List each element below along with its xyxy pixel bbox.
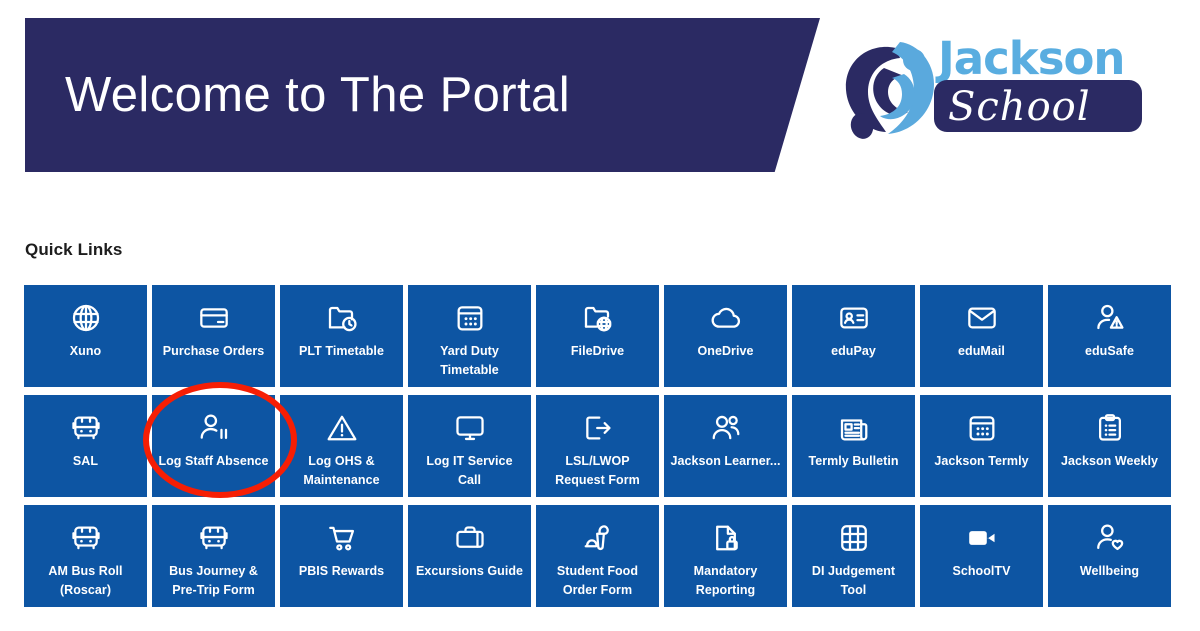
- quick-link-label: OneDrive: [692, 342, 760, 361]
- quick-link-tile[interactable]: AM Bus Roll (Roscar): [24, 505, 147, 607]
- quick-link-tile[interactable]: SchoolTV: [920, 505, 1043, 607]
- quick-link-label: Yard Duty Timetable: [408, 342, 531, 381]
- cloud-icon: [709, 301, 743, 335]
- person-pause-icon: [197, 411, 231, 445]
- quick-link-label: DI Judgement Tool: [792, 562, 915, 601]
- quick-link-label: Purchase Orders: [157, 342, 271, 361]
- quick-link-label: LSL/LWOP Request Form: [536, 452, 659, 491]
- quick-link-tile[interactable]: Bus Journey & Pre-Trip Form: [152, 505, 275, 607]
- quick-link-tile[interactable]: Jackson Weekly: [1048, 395, 1171, 497]
- quick-link-tile[interactable]: OneDrive: [664, 285, 787, 387]
- folder-globe-icon: [581, 301, 615, 335]
- logo-word-school: School: [948, 84, 1091, 130]
- folder-clock-icon: [325, 301, 359, 335]
- envelope-icon: [965, 301, 999, 335]
- food-drink-icon: [581, 521, 615, 555]
- quick-link-tile[interactable]: Log Staff Absence: [152, 395, 275, 497]
- globe-icon: [69, 301, 103, 335]
- quick-link-label: Log IT Service Call: [408, 452, 531, 491]
- quick-link-tile[interactable]: eduPay: [792, 285, 915, 387]
- quick-link-tile[interactable]: Jackson Learner...: [664, 395, 787, 497]
- quick-link-tile[interactable]: FileDrive: [536, 285, 659, 387]
- quick-link-tile[interactable]: Jackson Termly: [920, 395, 1043, 497]
- person-heart-icon: [1093, 521, 1127, 555]
- logo-word-jackson: Jackson: [938, 32, 1124, 85]
- quick-link-label: AM Bus Roll (Roscar): [24, 562, 147, 601]
- quick-link-label: eduMail: [952, 342, 1011, 361]
- grid-icon: [837, 521, 871, 555]
- quick-link-tile[interactable]: Termly Bulletin: [792, 395, 915, 497]
- shopping-cart-icon: [325, 521, 359, 555]
- quick-links-heading: Quick Links: [25, 240, 122, 260]
- quick-link-tile[interactable]: DI Judgement Tool: [792, 505, 915, 607]
- people-group-icon: [709, 411, 743, 445]
- quick-link-tile[interactable]: Log OHS & Maintenance: [280, 395, 403, 497]
- document-lock-icon: [709, 521, 743, 555]
- portal-page: Welcome to The Portal Jackson School Qui…: [0, 0, 1200, 631]
- quick-link-label: Jackson Termly: [928, 452, 1034, 471]
- quick-link-label: SchoolTV: [946, 562, 1016, 581]
- quick-link-label: SAL: [67, 452, 104, 471]
- jackson-school-swirl-logo-icon: [838, 34, 946, 146]
- quick-link-tile[interactable]: Excursions Guide: [408, 505, 531, 607]
- quick-link-tile[interactable]: Mandatory Reporting: [664, 505, 787, 607]
- warning-triangle-icon: [325, 411, 359, 445]
- quick-link-tile[interactable]: PBIS Rewards: [280, 505, 403, 607]
- quick-link-tile[interactable]: eduSafe: [1048, 285, 1171, 387]
- quick-link-label: Excursions Guide: [410, 562, 529, 581]
- quick-link-tile[interactable]: LSL/LWOP Request Form: [536, 395, 659, 497]
- quick-link-label: Mandatory Reporting: [664, 562, 787, 601]
- quick-link-tile[interactable]: Xuno: [24, 285, 147, 387]
- quick-link-label: eduSafe: [1079, 342, 1140, 361]
- clipboard-list-icon: [1093, 411, 1127, 445]
- calendar-grid-icon: [453, 301, 487, 335]
- quick-link-tile[interactable]: Wellbeing: [1048, 505, 1171, 607]
- credit-card-icon: [197, 301, 231, 335]
- quick-link-label: Wellbeing: [1074, 562, 1145, 581]
- quick-link-tile[interactable]: Student Food Order Form: [536, 505, 659, 607]
- briefcase-icon: [453, 521, 487, 555]
- exit-arrow-icon: [581, 411, 615, 445]
- quick-link-label: eduPay: [825, 342, 882, 361]
- quick-link-label: Bus Journey & Pre-Trip Form: [152, 562, 275, 601]
- quick-link-tile[interactable]: Yard Duty Timetable: [408, 285, 531, 387]
- quick-link-label: PLT Timetable: [293, 342, 390, 361]
- quick-link-tile[interactable]: eduMail: [920, 285, 1043, 387]
- quick-link-label: Student Food Order Form: [536, 562, 659, 601]
- monitor-icon: [453, 411, 487, 445]
- quick-link-label: Log OHS & Maintenance: [280, 452, 403, 491]
- logo-wordmark: Jackson School: [934, 30, 1149, 148]
- bus-icon: [197, 521, 231, 555]
- id-card-icon: [837, 301, 871, 335]
- bus-icon: [69, 521, 103, 555]
- quick-link-label: Xuno: [64, 342, 107, 361]
- quick-link-tile[interactable]: Purchase Orders: [152, 285, 275, 387]
- quick-link-label: Termly Bulletin: [802, 452, 904, 471]
- person-warning-icon: [1093, 301, 1127, 335]
- calendar-grid-icon: [965, 411, 999, 445]
- quick-links-grid: XunoPurchase OrdersPLT TimetableYard Dut…: [24, 285, 1176, 607]
- welcome-banner: Welcome to The Portal: [25, 18, 820, 172]
- newspaper-icon: [837, 411, 871, 445]
- page-title: Welcome to The Portal: [65, 67, 570, 123]
- quick-link-tile[interactable]: SAL: [24, 395, 147, 497]
- quick-link-label: Log Staff Absence: [152, 452, 274, 471]
- quick-link-label: Jackson Learner...: [665, 452, 787, 471]
- school-logo: Jackson School: [838, 30, 1148, 150]
- quick-link-tile[interactable]: Log IT Service Call: [408, 395, 531, 497]
- quick-link-label: Jackson Weekly: [1055, 452, 1164, 471]
- quick-link-tile[interactable]: PLT Timetable: [280, 285, 403, 387]
- bus-icon: [69, 411, 103, 445]
- quick-link-label: FileDrive: [565, 342, 630, 361]
- quick-link-label: PBIS Rewards: [293, 562, 390, 581]
- video-camera-icon: [965, 521, 999, 555]
